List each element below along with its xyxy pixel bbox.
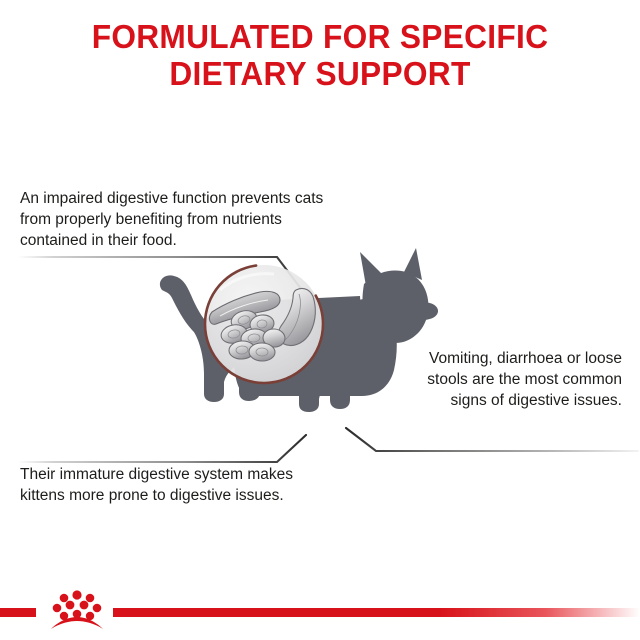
footer-bar-left-segment bbox=[0, 608, 36, 617]
callout-text-bottom-left: Their immature digestive system makes ki… bbox=[20, 464, 340, 506]
page-title-line-1: FORMULATED FOR SPECIFIC bbox=[13, 18, 627, 55]
footer-bar-right-segment bbox=[113, 608, 640, 617]
callout-text-top-left: An impaired digestive function prevents … bbox=[20, 188, 340, 251]
footer-brand-bar bbox=[0, 572, 640, 640]
page-title: FORMULATED FOR SPECIFIC DIETARY SUPPORT bbox=[0, 18, 640, 92]
cat-silhouette-illustration bbox=[150, 246, 450, 441]
infographic-page: FORMULATED FOR SPECIFIC DIETARY SUPPORT … bbox=[0, 0, 640, 640]
magnifier-lens bbox=[205, 265, 323, 383]
royal-canin-crown-logo bbox=[44, 588, 110, 632]
page-title-line-2: DIETARY SUPPORT bbox=[13, 55, 627, 92]
